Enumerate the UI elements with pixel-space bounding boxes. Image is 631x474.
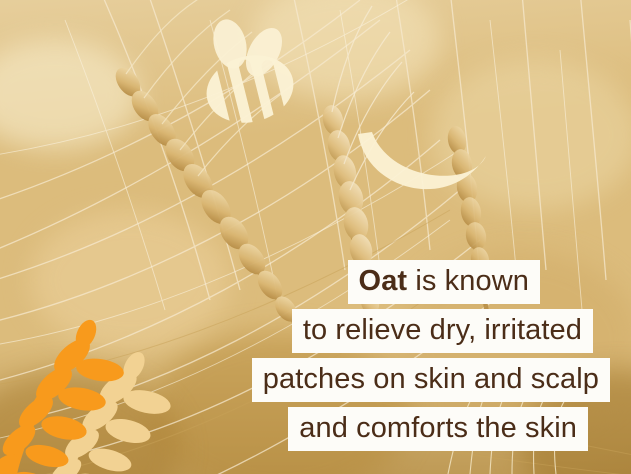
headline-line-1-rest: is known [407,265,529,297]
headline-line-2: to relieve dry, irritated [292,309,593,353]
bee-flight-trail [358,132,486,189]
headline-line-3: patches on skin and scalp [252,358,610,402]
headline-line-4: and comforts the skin [288,407,588,451]
oat-benefit-banner: Oat is known to relieve dry, irritated p… [0,0,631,474]
headline-line-1: Oat is known [348,260,540,304]
wheat-sprig-decorations [0,292,204,474]
headline-emphasis: Oat [359,265,408,297]
headline-text-block: Oat is known to relieve dry, irritated p… [252,260,610,451]
bee-body [199,46,300,131]
bee-decoration [186,16,506,216]
